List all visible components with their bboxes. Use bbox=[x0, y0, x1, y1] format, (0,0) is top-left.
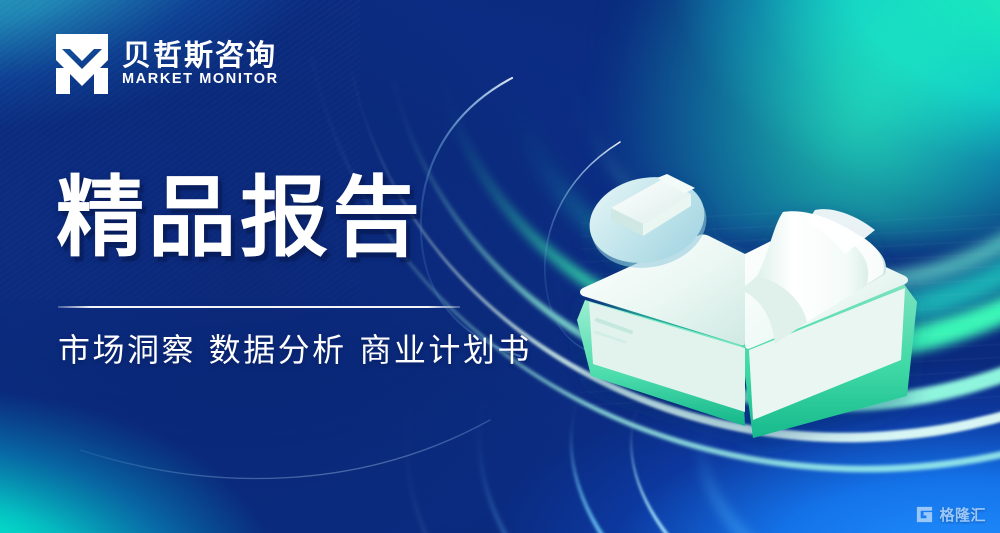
brand-name-cn: 贝哲斯咨询 bbox=[122, 40, 279, 70]
title-divider bbox=[58, 306, 460, 308]
brand-logo: 贝哲斯咨询 MARKET MONITOR bbox=[56, 34, 279, 94]
page-title: 精品报告 bbox=[56, 174, 424, 262]
report-cover-banner: 贝哲斯咨询 MARKET MONITOR 精品报告 市场洞察 数据分析 商业计划… bbox=[0, 0, 1000, 533]
gelonghui-g-icon bbox=[915, 505, 934, 524]
brand-name-en: MARKET MONITOR bbox=[122, 72, 279, 88]
watermark: 格隆汇 bbox=[915, 504, 986, 525]
brand-logo-text: 贝哲斯咨询 MARKET MONITOR bbox=[122, 40, 279, 88]
page-subtitle: 市场洞察 数据分析 商业计划书 bbox=[58, 330, 532, 370]
market-monitor-m-mark-icon bbox=[56, 34, 108, 94]
open-book-illustration bbox=[545, 150, 945, 440]
watermark-text: 格隆汇 bbox=[939, 504, 986, 525]
